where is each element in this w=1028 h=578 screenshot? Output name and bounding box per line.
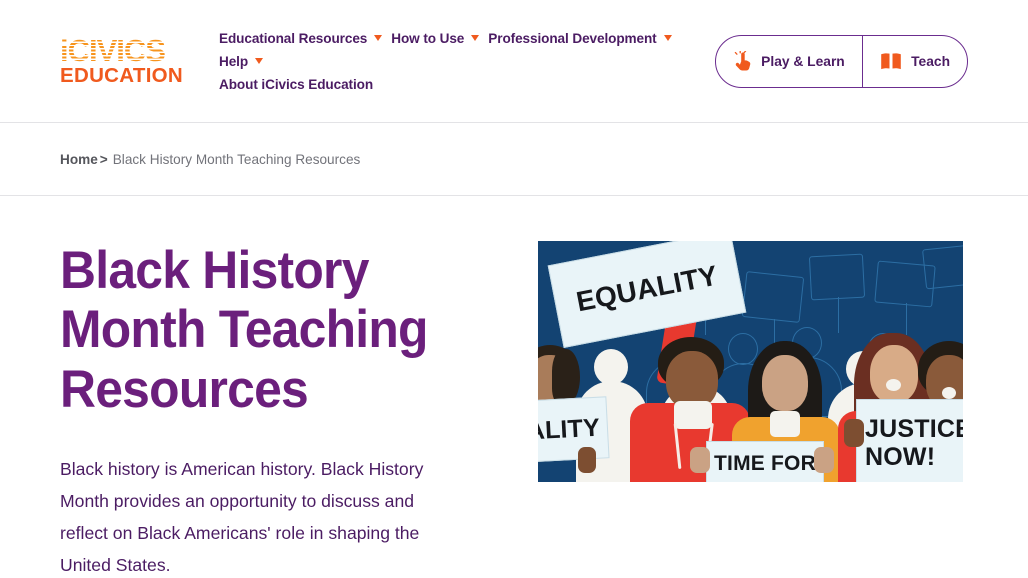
sign-text-line-1: JUSTICE (865, 415, 963, 443)
protest-illustration-art: EQUALITY ALITY TIME FOR JUSTICE NOW! (538, 241, 963, 482)
nav-label: Educational Resources (219, 31, 367, 46)
play-and-learn-button[interactable]: Play & Learn (716, 36, 862, 87)
site-header: iCIVICS EDUCATION Educational Resources … (0, 0, 1028, 123)
open-mouth (886, 379, 901, 391)
logo-wordmark-education: EDUCATION (60, 66, 193, 87)
breadcrumb: Home > Black History Month Teaching Reso… (0, 123, 1028, 196)
face (762, 355, 808, 411)
nav-label: About iCivics Education (219, 77, 373, 92)
primary-navigation: Educational Resources How to Use Profess… (219, 31, 715, 92)
crowd-silhouette-head (594, 349, 628, 385)
protest-sign-equality-partial: ALITY (538, 396, 610, 463)
bg-placard (742, 271, 804, 323)
nav-label: How to Use (391, 31, 464, 46)
sign-text-line-2: NOW! (865, 443, 935, 471)
breadcrumb-current-page: Black History Month Teaching Resources (113, 152, 361, 167)
teach-label: Teach (911, 54, 950, 69)
breadcrumb-separator: > (100, 152, 108, 167)
nav-item-educational-resources[interactable]: Educational Resources (219, 31, 382, 46)
breadcrumb-home-link[interactable]: Home (60, 152, 98, 167)
pointing-hand-icon (733, 51, 752, 72)
shirt-collar (674, 401, 712, 429)
protest-sign-justice-now: JUSTICE NOW! (856, 399, 963, 482)
bg-placard (809, 254, 865, 301)
hero-illustration: EQUALITY ALITY TIME FOR JUSTICE NOW! (538, 241, 963, 482)
bg-placard-pole (838, 297, 839, 333)
hair-side (552, 349, 580, 405)
nav-item-professional-development[interactable]: Professional Development (488, 31, 671, 46)
chevron-down-icon[interactable] (471, 35, 479, 41)
nav-item-help[interactable]: Help (219, 54, 263, 69)
page-intro-paragraph: Black history is American history. Black… (60, 453, 450, 578)
bg-placard (922, 245, 963, 290)
bg-placard-pole (906, 303, 907, 335)
content-column: Black History Month Teaching Resources B… (60, 241, 460, 578)
main-content: Black History Month Teaching Resources B… (0, 196, 1028, 578)
chevron-down-icon[interactable] (664, 35, 672, 41)
open-mouth (942, 387, 956, 399)
sign-text: ALITY (538, 413, 601, 446)
nav-item-how-to-use[interactable]: How to Use (391, 31, 479, 46)
sign-text: TIME FOR (714, 452, 816, 476)
nav-label: Professional Development (488, 31, 656, 46)
hand-on-sign (690, 447, 710, 473)
sign-text: EQUALITY (574, 260, 721, 319)
chevron-down-icon[interactable] (374, 35, 382, 41)
nav-label: Help (219, 54, 248, 69)
hand-on-sign (814, 447, 834, 473)
logo-wordmark-icivics: iCIVICS (60, 36, 193, 65)
hand-on-sign (578, 447, 596, 473)
open-book-icon (880, 52, 902, 71)
protest-sign-equality: EQUALITY (548, 241, 747, 348)
site-logo[interactable]: iCIVICS EDUCATION (60, 36, 193, 87)
play-and-learn-label: Play & Learn (761, 54, 845, 69)
nav-item-about-icivics-education[interactable]: About iCivics Education (219, 77, 715, 92)
shirt-collar (770, 411, 800, 437)
face (870, 345, 918, 403)
chevron-down-icon[interactable] (255, 58, 263, 64)
header-action-group: Play & Learn Teach (715, 35, 968, 88)
protest-sign-time-for: TIME FOR (706, 441, 824, 482)
hand-on-sign (844, 419, 864, 447)
hero-column: EQUALITY ALITY TIME FOR JUSTICE NOW! (538, 241, 963, 578)
teach-button[interactable]: Teach (863, 36, 967, 87)
page-title: Black History Month Teaching Resources (60, 241, 436, 419)
